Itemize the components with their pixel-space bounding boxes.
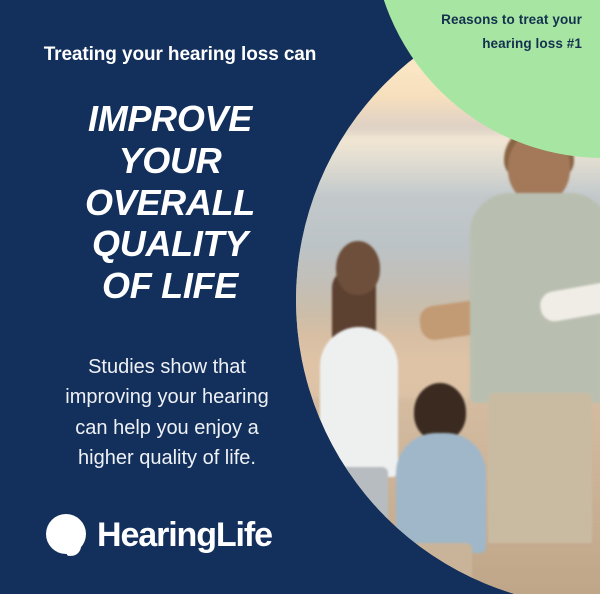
kicker-text: Treating your hearing loss can [10, 44, 350, 66]
body-copy: Studies show that improving your hearing… [24, 352, 310, 474]
speech-bubble-icon [46, 514, 88, 556]
torso [320, 327, 398, 477]
badge-line-1: Reasons to treat your [312, 8, 582, 32]
headline-line-4: QUALITY [20, 223, 320, 265]
body-line-1: Studies show that [24, 352, 310, 382]
headline-line-3: OVERALL [20, 182, 320, 224]
legs [488, 393, 592, 543]
badge-line-2: hearing loss #1 [312, 32, 582, 56]
person-woman-right [596, 137, 600, 594]
body-line-4: higher quality of life. [24, 443, 310, 473]
headline-line-5: OF LIFE [20, 265, 320, 307]
headline-line-2: YOUR [20, 140, 320, 182]
headline-line-1: IMPROVE [20, 98, 320, 140]
brand-logo: HearingLife [46, 514, 272, 556]
legs [332, 467, 388, 594]
badge-label: Reasons to treat your hearing loss #1 [312, 8, 582, 55]
promo-poster: Reasons to treat your hearing loss #1 Tr… [0, 0, 600, 594]
head [336, 241, 380, 295]
page-title: IMPROVE YOUR OVERALL QUALITY OF LIFE [20, 98, 320, 307]
person-man-center [464, 107, 600, 594]
body-line-3: can help you enjoy a [24, 413, 310, 443]
brand-name: HearingLife [97, 516, 272, 555]
bubble-tail [67, 541, 82, 556]
legs [410, 543, 472, 594]
body-line-2: improving your hearing [24, 382, 310, 412]
